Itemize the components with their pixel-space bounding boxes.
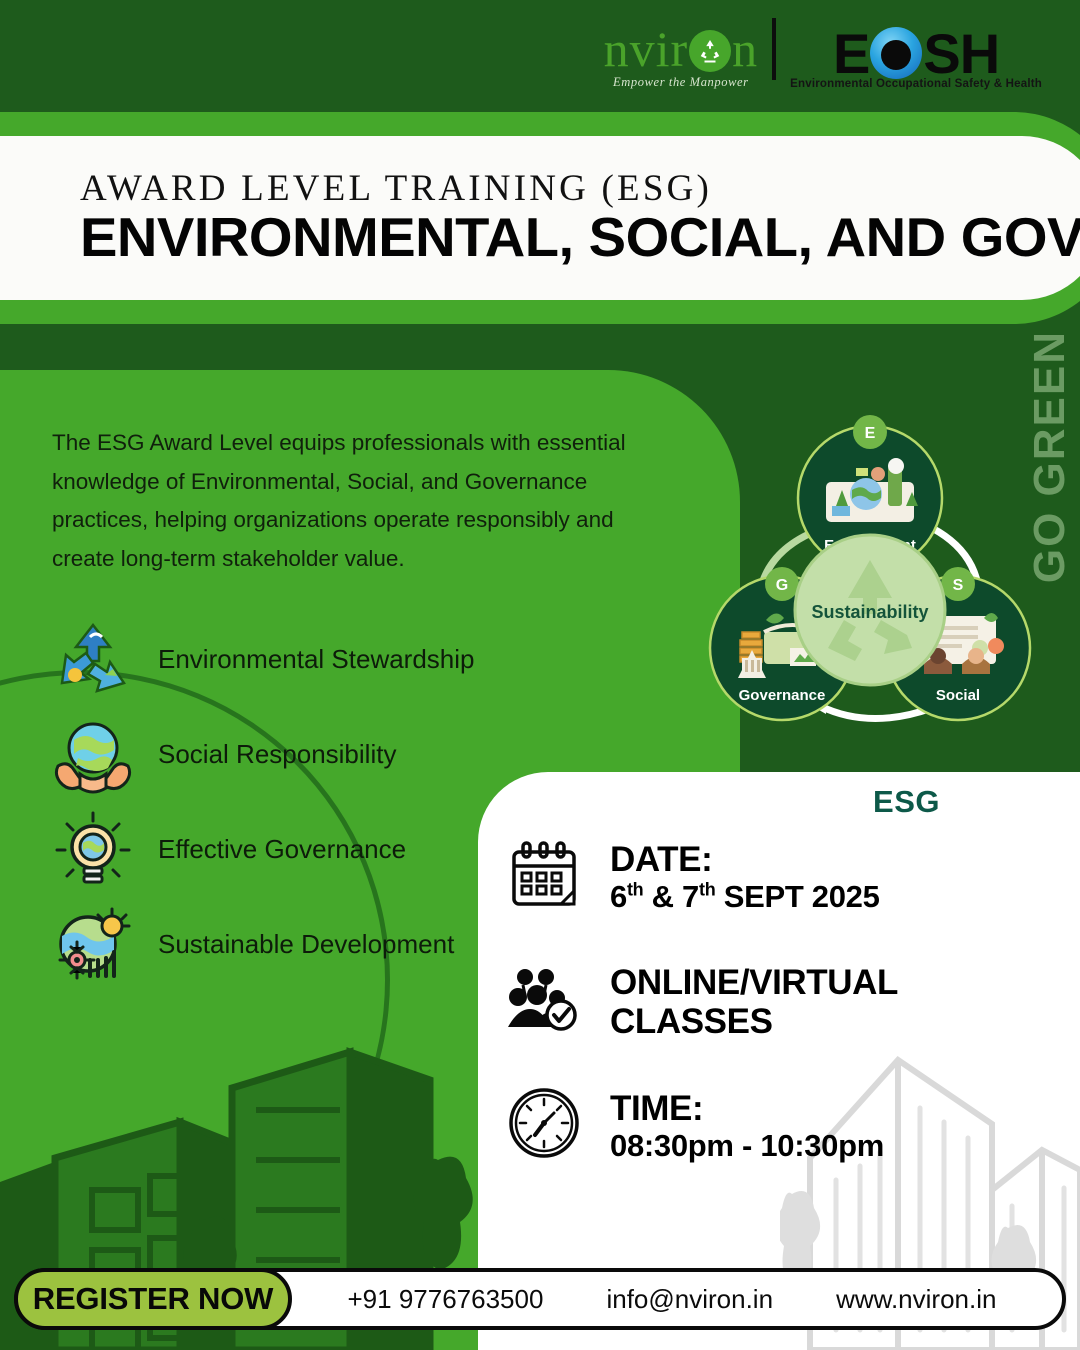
session-details: DATE: 6th & 7th SEPT 2025: [508, 838, 1068, 1209]
diagram-node-letter-e: E: [865, 425, 876, 442]
detail-text: TIME: 08:30pm - 10:30pm: [610, 1087, 884, 1164]
earth-climate-icon: [50, 902, 136, 988]
website-url[interactable]: www.nviron.in: [836, 1284, 996, 1315]
date-ord-second: th: [699, 880, 715, 900]
detail-value: 08:30pm - 10:30pm: [610, 1128, 884, 1163]
logo-row: nvir n Empower the Manpower: [604, 18, 1042, 90]
phone-number[interactable]: +91 9776763500: [348, 1284, 544, 1315]
header-band: nvir n Empower the Manpower: [0, 0, 1080, 112]
contact-row: +91 9776763500 info@nviron.in www.nviron…: [292, 1284, 1062, 1315]
group-check-icon: [508, 961, 580, 1033]
title-kicker: AWARD LEVEL TRAINING (ESG): [80, 170, 1080, 207]
hands-holding-globe-icon: [50, 712, 136, 798]
detail-heading: ONLINE/VIRTUAL: [610, 963, 898, 1002]
detail-heading: DATE:: [610, 840, 880, 879]
lightbulb-globe-icon: [50, 807, 136, 893]
diagram-node-letter-g: G: [776, 577, 788, 594]
detail-value: CLASSES: [610, 1002, 898, 1041]
feature-item: Environmental Stewardship: [50, 612, 660, 707]
detail-heading: TIME:: [610, 1089, 884, 1128]
footer-contact-bar: REGISTER NOW +91 9776763500 info@nviron.…: [14, 1268, 1066, 1330]
esg-badge: ESG: [873, 784, 940, 820]
nviron-text-tail: n: [732, 24, 758, 74]
eosh-globe-icon: [870, 27, 922, 79]
eosh-subtitle: Environmental Occupational Safety & Heal…: [790, 78, 1042, 90]
email-address[interactable]: info@nviron.in: [606, 1284, 773, 1315]
feature-label: Sustainable Development: [158, 929, 454, 961]
nviron-text-lead: nvir: [604, 24, 689, 74]
intro-paragraph: The ESG Award Level equips professionals…: [52, 424, 672, 579]
date-month-year: SEPT 2025: [715, 879, 879, 914]
eosh-logo: E SH Environmental Occupational Safety &…: [790, 27, 1042, 90]
feature-label: Environmental Stewardship: [158, 644, 475, 676]
diagram-node-label-social: Social: [936, 687, 980, 704]
detail-row-date: DATE: 6th & 7th SEPT 2025: [508, 838, 1068, 915]
eosh-letters-sh: SH: [923, 27, 999, 80]
feature-item: Social Responsibility: [50, 707, 660, 802]
page-title: ENVIRONMENTAL, SOCIAL, AND GOVERNANCE: [80, 209, 1080, 267]
feature-label: Social Responsibility: [158, 739, 396, 771]
date-conjunction: & 7: [643, 879, 699, 914]
detail-value: 6th & 7th SEPT 2025: [610, 879, 880, 914]
recycle-icon: [689, 30, 731, 72]
nviron-tagline: Empower the Manpower: [613, 75, 749, 90]
nviron-logo: nvir n Empower the Manpower: [604, 24, 759, 90]
esg-diagram: Environment E Social S: [700, 398, 1040, 768]
date-day-first: 6: [610, 879, 627, 914]
recycle-nature-icon: [50, 617, 136, 703]
detail-row-time: TIME: 08:30pm - 10:30pm: [508, 1087, 1068, 1164]
detail-text: ONLINE/VIRTUAL CLASSES: [610, 961, 898, 1041]
nviron-wordmark: nvir n: [604, 24, 759, 74]
register-now-button[interactable]: REGISTER NOW: [14, 1268, 292, 1330]
calendar-icon: [508, 838, 580, 910]
poster-root: nvir n Empower the Manpower: [0, 0, 1080, 1350]
detail-text: DATE: 6th & 7th SEPT 2025: [610, 838, 880, 915]
diagram-node-label-governance: Governance: [739, 687, 826, 704]
feature-label: Effective Governance: [158, 834, 406, 866]
clock-icon: [508, 1087, 580, 1159]
eosh-wordmark: E SH: [833, 27, 999, 80]
eosh-letter-e: E: [833, 27, 869, 80]
date-ord-first: th: [627, 880, 643, 900]
logo-divider: [772, 18, 776, 80]
detail-row-mode: ONLINE/VIRTUAL CLASSES: [508, 961, 1068, 1041]
title-card: AWARD LEVEL TRAINING (ESG) ENVIRONMENTAL…: [0, 136, 1080, 300]
diagram-center-label: Sustainability: [811, 602, 928, 622]
diagram-node-letter-s: S: [953, 577, 964, 594]
